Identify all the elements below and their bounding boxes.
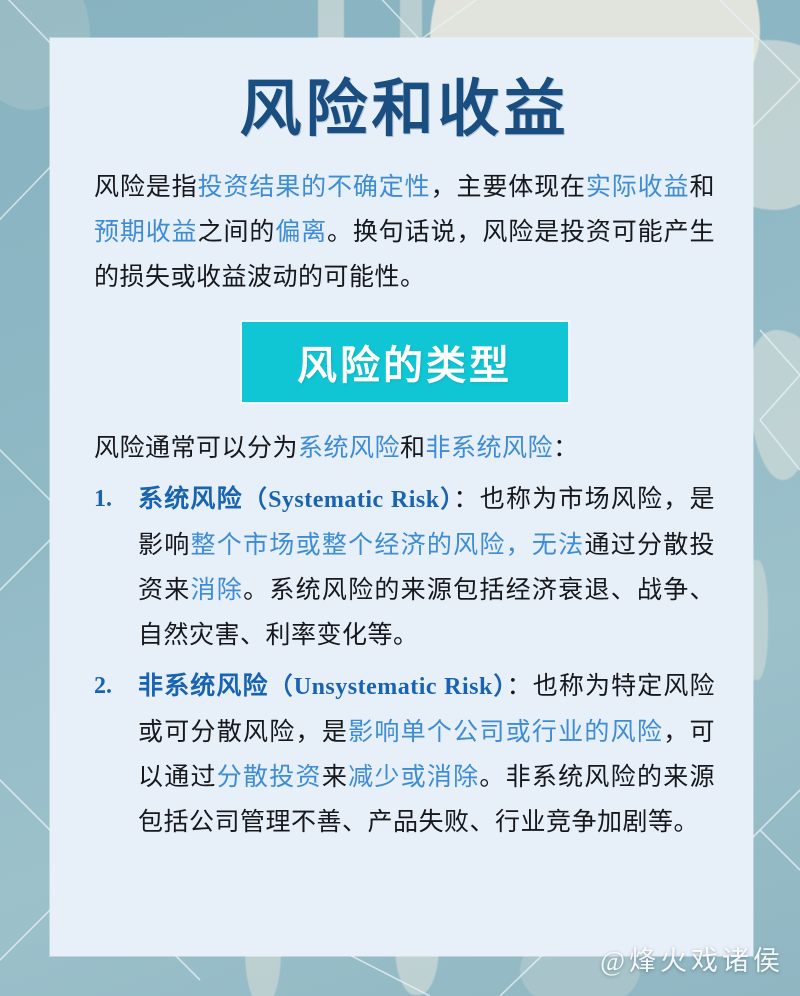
section-banner-label: 风险的类型 bbox=[297, 333, 512, 391]
list-item-term-cn: 系统风险 bbox=[138, 485, 243, 513]
page-title: 风险和收益 bbox=[94, 78, 715, 143]
list-item: 1. 系统风险（Systematic Risk）：也称为市场风险，是影响整个市场… bbox=[94, 477, 715, 658]
poster-page: 风险和收益 风险是指投资结果的不确定性，主要体现在实际收益和预期收益之间的偏离。… bbox=[0, 0, 800, 996]
list-item: 2. 非系统风险（Unsystematic Risk）：也称为特定风险或可分散风… bbox=[94, 664, 715, 845]
intro-paragraph: 风险是指投资结果的不确定性，主要体现在实际收益和预期收益之间的偏离。换句话说，风… bbox=[94, 165, 715, 300]
risk-type-list: 1. 系统风险（Systematic Risk）：也称为市场风险，是影响整个市场… bbox=[94, 477, 715, 845]
lead-paragraph: 风险通常可以分为系统风险和非系统风险： bbox=[94, 426, 715, 471]
list-item-number: 2. bbox=[94, 664, 138, 845]
list-item-number: 1. bbox=[94, 477, 138, 658]
list-item-term-cn: 非系统风险 bbox=[138, 672, 269, 700]
list-item-body: 系统风险（Systematic Risk）：也称为市场风险，是影响整个市场或整个… bbox=[138, 477, 715, 658]
content-card: 风险和收益 风险是指投资结果的不确定性，主要体现在实际收益和预期收益之间的偏离。… bbox=[50, 38, 753, 956]
list-item-body: 非系统风险（Unsystematic Risk）：也称为特定风险或可分散风险，是… bbox=[138, 664, 715, 845]
watermark: @烽火戏诸侯 bbox=[600, 939, 784, 978]
list-item-term-en: （Unsystematic Risk） bbox=[269, 674, 507, 700]
list-item-term-en: （Systematic Risk） bbox=[243, 487, 454, 513]
section-banner: 风险的类型 bbox=[242, 322, 568, 402]
section-banner-wrap: 风险的类型 bbox=[94, 322, 715, 402]
